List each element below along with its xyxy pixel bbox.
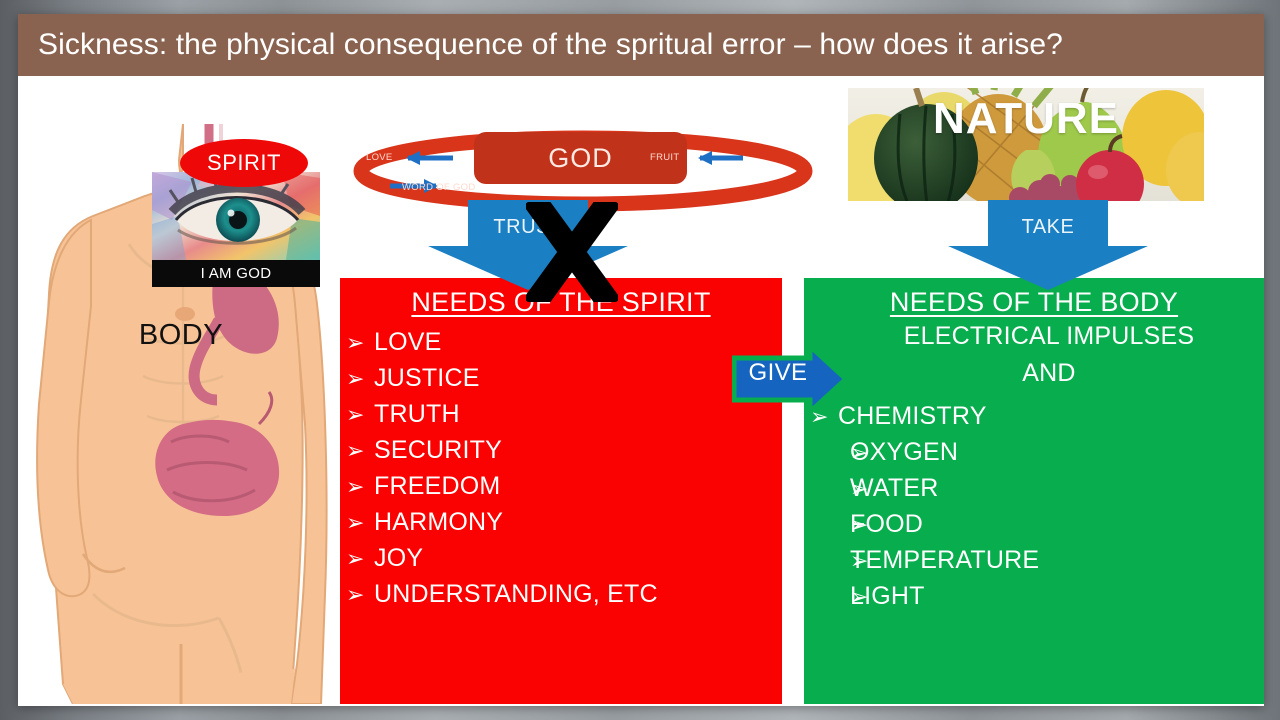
body-need-item: ➢LIGHT	[804, 578, 1264, 614]
spirit-need-label: JOY	[374, 546, 423, 571]
ring-label-love: LOVE	[366, 152, 393, 163]
body-need-item: ➢OXYGEN	[804, 434, 1264, 470]
needs-of-the-spirit-panel: NEEDS OF THE SPIRIT ➢LOVE➢JUSTICE➢TRUTH➢…	[340, 278, 782, 704]
spirit-need-label: UNDERSTANDING, ETC	[374, 582, 658, 607]
list-bullet-icon: ➢	[340, 584, 374, 606]
spirit-label: SPIRIT	[207, 150, 281, 176]
list-bullet-icon: ➢	[340, 404, 374, 426]
list-bullet-icon: ➢	[340, 548, 374, 570]
spirit-needs-list: ➢LOVE➢JUSTICE➢TRUTH➢SECURITY➢FREEDOM➢HAR…	[340, 324, 782, 612]
slide-title-bar: Sickness: the physical consequence of th…	[18, 14, 1264, 76]
take-label: TAKE	[948, 216, 1148, 239]
body-need-label: OXYGEN	[850, 440, 958, 465]
body-need-label: WATER	[850, 476, 939, 501]
spirit-need-label: FREEDOM	[374, 474, 500, 499]
spirit-need-item: ➢LOVE	[340, 324, 782, 360]
spirit-need-item: ➢UNDERSTANDING, ETC	[340, 576, 782, 612]
list-bullet-icon: ➢	[804, 550, 850, 572]
spirit-ellipse-badge: SPIRIT	[180, 139, 308, 187]
list-bullet-icon: ➢	[340, 476, 374, 498]
list-bullet-icon: ➢	[804, 586, 850, 608]
list-bullet-icon: ➢	[804, 514, 850, 536]
electrical-impulses-line: ELECTRICAL IMPULSES	[804, 318, 1264, 355]
needs-of-the-body-panel: NEEDS OF THE BODY ELECTRICAL IMPULSES AN…	[804, 278, 1264, 704]
ring-label-fruit: FRUIT	[650, 152, 679, 163]
spirit-need-label: TRUTH	[374, 402, 460, 427]
body-need-label: CHEMISTRY	[838, 404, 987, 429]
cross-out-x-icon	[526, 202, 618, 302]
take-down-arrow: TAKE	[948, 200, 1148, 290]
spirit-need-item: ➢FREEDOM	[340, 468, 782, 504]
spirit-need-item: ➢HARMONY	[340, 504, 782, 540]
spirit-need-label: JUSTICE	[374, 366, 480, 391]
list-bullet-icon: ➢	[340, 512, 374, 534]
spirit-need-label: LOVE	[374, 330, 442, 355]
down-arrow-icon	[948, 200, 1148, 290]
and-line: AND	[804, 355, 1264, 392]
spirit-need-item: ➢JOY	[340, 540, 782, 576]
body-needs-list: ➢CHEMISTRY➢OXYGEN➢WATER➢FOOD➢TEMPERATURE…	[804, 398, 1264, 614]
body-need-label: FOOD	[850, 512, 923, 537]
spirit-need-item: ➢TRUTH	[340, 396, 782, 432]
spirit-need-label: SECURITY	[374, 438, 502, 463]
body-need-label: TEMPERATURE	[850, 548, 1039, 573]
body-need-item: ➢TEMPERATURE	[804, 542, 1264, 578]
body-need-label: LIGHT	[850, 584, 925, 609]
spirit-need-item: ➢SECURITY	[340, 432, 782, 468]
body-need-item: ➢CHEMISTRY	[804, 398, 1264, 434]
body-need-item: ➢FOOD	[804, 506, 1264, 542]
spirit-need-label: HARMONY	[374, 510, 503, 535]
i-am-god-caption-bar: I AM GOD	[152, 260, 320, 287]
give-label: GIVE	[732, 359, 824, 387]
body-panel-title-text: NEEDS OF THE BODY	[890, 287, 1178, 317]
god-label: GOD	[548, 143, 613, 174]
list-bullet-icon: ➢	[340, 368, 374, 390]
list-bullet-icon: ➢	[340, 332, 374, 354]
i-am-god-label: I AM GOD	[201, 265, 272, 282]
nature-label: NATURE	[848, 94, 1204, 144]
list-bullet-icon: ➢	[804, 478, 850, 500]
ring-label-word-of-god: WORD OF GOD	[402, 182, 476, 193]
slide-canvas: Sickness: the physical consequence of th…	[18, 14, 1264, 706]
spirit-need-item: ➢JUSTICE	[340, 360, 782, 396]
body-label: BODY	[33, 319, 329, 352]
list-bullet-icon: ➢	[804, 442, 850, 464]
body-need-item: ➢WATER	[804, 470, 1264, 506]
page-title: Sickness: the physical consequence of th…	[18, 28, 1063, 62]
list-bullet-icon: ➢	[340, 440, 374, 462]
